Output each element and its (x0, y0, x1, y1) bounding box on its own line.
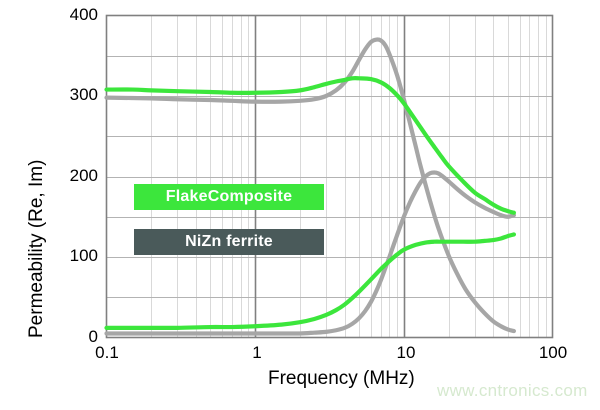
x-tick-10: 10 (385, 343, 427, 363)
y-axis-title: Permeability (Re, Im) (26, 160, 48, 338)
minor-gridlines (152, 16, 547, 338)
x-axis-title: Frequency (MHz) (268, 368, 415, 390)
major-decade-gridlines (256, 16, 405, 338)
y-tick-300: 300 (36, 85, 98, 105)
x-tick-1: 1 (236, 343, 278, 363)
y-tick-400: 400 (36, 5, 98, 25)
legend-label-nizn-ferrite: NiZn ferrite (185, 233, 273, 251)
watermark-text: www.cntronics.com (437, 381, 588, 401)
x-tick-0.1: 0.1 (86, 343, 128, 363)
x-tick-100: 100 (532, 343, 574, 363)
legend-label-flakecomposite: FlakeComposite (166, 188, 292, 206)
legend-item-nizn-ferrite: NiZn ferrite (134, 229, 324, 255)
legend-item-flakecomposite: FlakeComposite (134, 184, 324, 210)
plot-frame (107, 16, 553, 338)
permeability-chart: 400 300 200 100 0 0.1 1 10 100 Permeabil… (0, 0, 600, 410)
